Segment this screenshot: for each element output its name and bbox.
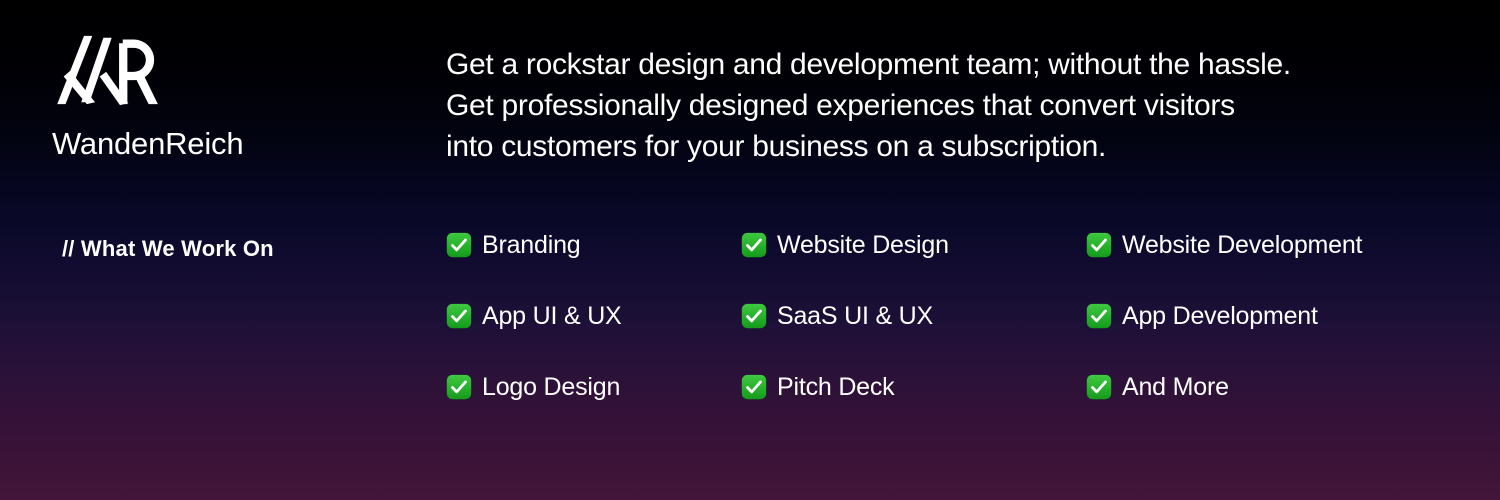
- green-check-mark-icon: [446, 232, 472, 258]
- green-check-mark-icon: [1086, 374, 1112, 400]
- green-check-mark-icon: [741, 303, 767, 329]
- green-check-mark-icon: [1086, 303, 1112, 329]
- services-grid: Branding Website Design: [446, 232, 1456, 445]
- headline-line-2: Get professionally designed experiences …: [446, 85, 1466, 126]
- headline-block: Get a rockstar design and development te…: [446, 44, 1466, 167]
- service-item-logo-design: Logo Design: [446, 374, 741, 400]
- service-label: Website Development: [1122, 233, 1362, 258]
- wr-monogram-logo-icon: [52, 34, 382, 106]
- service-label: Pitch Deck: [777, 375, 894, 400]
- service-item-app-ui-ux: App UI & UX: [446, 303, 741, 329]
- service-label: Branding: [482, 233, 580, 258]
- service-item-branding: Branding: [446, 232, 741, 258]
- green-check-mark-icon: [446, 374, 472, 400]
- green-check-mark-icon: [446, 303, 472, 329]
- service-label: Logo Design: [482, 375, 620, 400]
- service-item-and-more: And More: [1086, 374, 1456, 400]
- green-check-mark-icon: [741, 374, 767, 400]
- service-item-saas-ui-ux: SaaS UI & UX: [741, 303, 1086, 329]
- service-label: Website Design: [777, 233, 949, 258]
- headline-line-1: Get a rockstar design and development te…: [446, 44, 1466, 85]
- service-label: SaaS UI & UX: [777, 304, 933, 329]
- service-item-website-development: Website Development: [1086, 232, 1456, 258]
- service-item-app-development: App Development: [1086, 303, 1456, 329]
- brand-name: WandenReich: [52, 128, 382, 159]
- headline-line-3: into customers for your business on a su…: [446, 126, 1466, 167]
- service-label: App Development: [1122, 304, 1318, 329]
- green-check-mark-icon: [1086, 232, 1112, 258]
- promo-banner: WandenReich Get a rockstar design and de…: [0, 0, 1500, 500]
- brand-block: WandenReich: [52, 34, 382, 159]
- service-label: App UI & UX: [482, 304, 622, 329]
- service-item-website-design: Website Design: [741, 232, 1086, 258]
- section-label-what-we-work-on: // What We Work On: [62, 236, 274, 262]
- service-item-pitch-deck: Pitch Deck: [741, 374, 1086, 400]
- service-label: And More: [1122, 375, 1229, 400]
- green-check-mark-icon: [741, 232, 767, 258]
